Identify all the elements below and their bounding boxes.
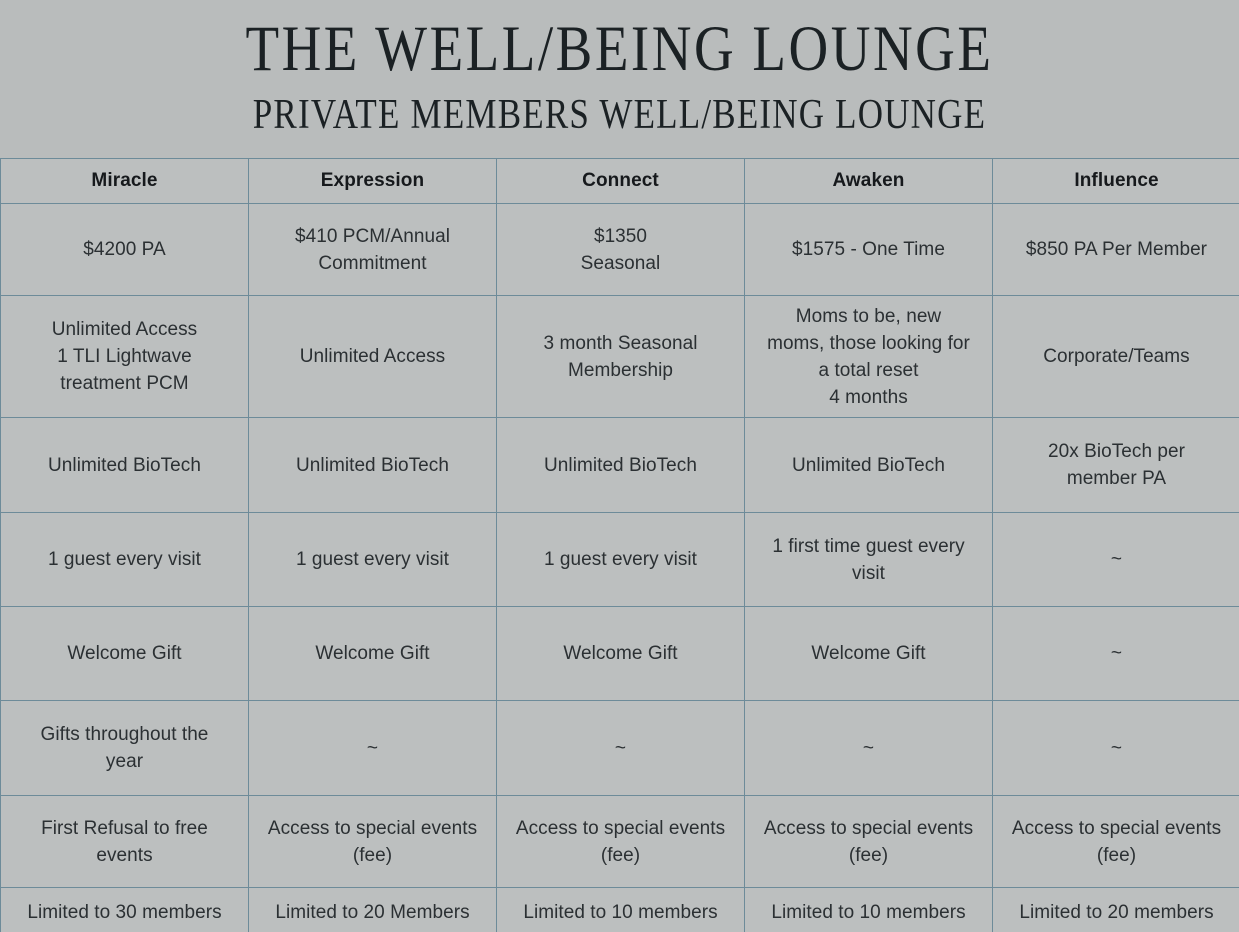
cell-price-influence: $850 PA Per Member [993, 204, 1239, 296]
column-header-awaken: Awaken [745, 159, 993, 204]
cell-gifts-connect: ~ [497, 701, 745, 796]
table-row-biotech: Unlimited BioTech Unlimited BioTech Unli… [1, 418, 1239, 513]
cell-guest-influence: ~ [993, 513, 1239, 607]
cell-events-awaken: Access to special events (fee) [745, 796, 993, 888]
cell-events-influence: Access to special events (fee) [993, 796, 1239, 888]
column-header-connect: Connect [497, 159, 745, 204]
cell-price-connect: $1350 Seasonal [497, 204, 745, 296]
table-body: $4200 PA $410 PCM/Annual Commitment $135… [1, 204, 1239, 932]
table-row-access: Unlimited Access 1 TLI Lightwave treatme… [1, 296, 1239, 418]
cell-guest-connect: 1 guest every visit [497, 513, 745, 607]
cell-biotech-influence: 20x BioTech per member PA [993, 418, 1239, 513]
cell-gifts-expression: ~ [249, 701, 497, 796]
cell-events-miracle: First Refusal to free events [1, 796, 249, 888]
cell-access-connect: 3 month Seasonal Membership [497, 296, 745, 418]
cell-welcome-expression: Welcome Gift [249, 607, 497, 701]
pricing-page: THE WELL/BEING LOUNGE PRIVATE MEMBERS WE… [0, 0, 1239, 932]
table-header: Miracle Expression Connect Awaken Influe… [1, 159, 1239, 204]
cell-limit-influence: Limited to 20 members [993, 888, 1239, 932]
cell-biotech-awaken: Unlimited BioTech [745, 418, 993, 513]
cell-limit-connect: Limited to 10 members [497, 888, 745, 932]
cell-guest-awaken: 1 first time guest every visit [745, 513, 993, 607]
table-row-price: $4200 PA $410 PCM/Annual Commitment $135… [1, 204, 1239, 296]
page-subtitle: PRIVATE MEMBERS WELL/BEING LOUNGE [0, 90, 1239, 139]
table-row-events: First Refusal to free events Access to s… [1, 796, 1239, 888]
membership-pricing-table: Miracle Expression Connect Awaken Influe… [0, 158, 1239, 932]
cell-access-expression: Unlimited Access [249, 296, 497, 418]
cell-gifts-miracle: Gifts throughout the year [1, 701, 249, 796]
cell-price-awaken: $1575 - One Time [745, 204, 993, 296]
cell-price-miracle: $4200 PA [1, 204, 249, 296]
table-row-gifts: Gifts throughout the year ~ ~ ~ ~ [1, 701, 1239, 796]
cell-biotech-miracle: Unlimited BioTech [1, 418, 249, 513]
cell-biotech-connect: Unlimited BioTech [497, 418, 745, 513]
cell-gifts-influence: ~ [993, 701, 1239, 796]
cell-biotech-expression: Unlimited BioTech [249, 418, 497, 513]
cell-events-connect: Access to special events (fee) [497, 796, 745, 888]
cell-welcome-miracle: Welcome Gift [1, 607, 249, 701]
table-row-guest: 1 guest every visit 1 guest every visit … [1, 513, 1239, 607]
cell-access-miracle: Unlimited Access 1 TLI Lightwave treatme… [1, 296, 249, 418]
cell-welcome-awaken: Welcome Gift [745, 607, 993, 701]
cell-guest-miracle: 1 guest every visit [1, 513, 249, 607]
table-row-member-limit: Limited to 30 members Limited to 20 Memb… [1, 888, 1239, 932]
cell-access-influence: Corporate/Teams [993, 296, 1239, 418]
page-title: THE WELL/BEING LOUNGE [0, 12, 1239, 85]
column-header-expression: Expression [249, 159, 497, 204]
cell-limit-miracle: Limited to 30 members [1, 888, 249, 932]
cell-gifts-awaken: ~ [745, 701, 993, 796]
cell-events-expression: Access to special events (fee) [249, 796, 497, 888]
cell-limit-awaken: Limited to 10 members [745, 888, 993, 932]
column-header-influence: Influence [993, 159, 1239, 204]
page-header: THE WELL/BEING LOUNGE PRIVATE MEMBERS WE… [0, 0, 1239, 130]
table-header-row: Miracle Expression Connect Awaken Influe… [1, 159, 1239, 204]
cell-welcome-influence: ~ [993, 607, 1239, 701]
column-header-miracle: Miracle [1, 159, 249, 204]
cell-limit-expression: Limited to 20 Members [249, 888, 497, 932]
table-row-welcome-gift: Welcome Gift Welcome Gift Welcome Gift W… [1, 607, 1239, 701]
pricing-table-container: Miracle Expression Connect Awaken Influe… [0, 158, 1239, 932]
cell-access-awaken: Moms to be, new moms, those looking for … [745, 296, 993, 418]
cell-price-expression: $410 PCM/Annual Commitment [249, 204, 497, 296]
cell-guest-expression: 1 guest every visit [249, 513, 497, 607]
cell-welcome-connect: Welcome Gift [497, 607, 745, 701]
